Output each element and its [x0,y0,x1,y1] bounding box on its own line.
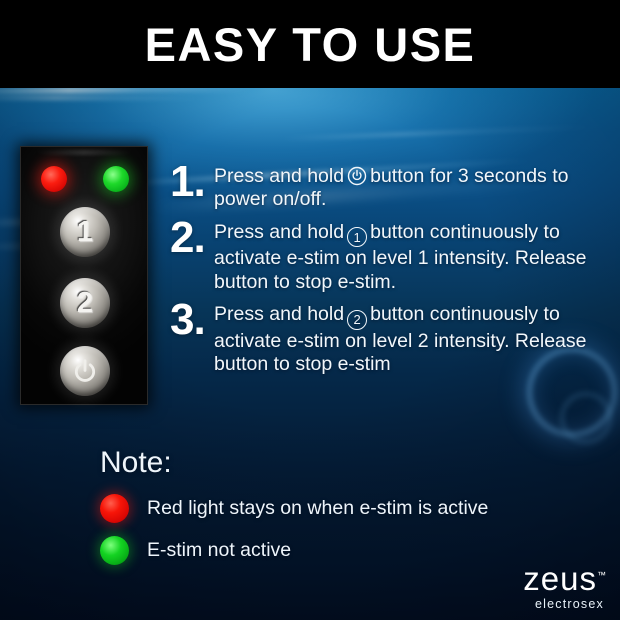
device-button-2-label: 2 [77,289,93,318]
note-item-label: E-stim not active [147,541,291,561]
device-button-2[interactable]: 2 [60,278,110,328]
device-button-1[interactable]: 1 [60,207,110,257]
brand-tagline: electrosex [523,598,604,611]
step-number: 2. [170,218,214,258]
step-number: 1. [170,162,214,202]
page-title: EASY TO USE [145,21,476,68]
brand-name-text: zeus [523,560,597,597]
panel-sheen [36,150,132,155]
step-text-before: Press and hold [214,165,344,187]
note-title: Note: [100,448,488,478]
brand-logo: zeus™ electrosex [523,562,606,611]
step-text: Press and hold2button continuously to ac… [214,300,610,376]
step-item: 2. Press and hold1button continuously to… [170,218,610,294]
step-text: Press and holdbutton for 3 seconds to po… [214,162,610,212]
note-section: Note: Red light stays on when e-stim is … [100,448,488,578]
note-item-label: Red light stays on when e-stim is active [147,499,488,519]
red-dot-icon [100,494,129,523]
step-item: 1. Press and holdbutton for 3 seconds to… [170,162,610,212]
power-icon [347,166,367,186]
note-item: E-stim not active [100,536,488,565]
step-number: 3. [170,300,214,340]
step-item: 3. Press and hold2button continuously to… [170,300,610,376]
step-text-before: Press and hold [214,221,344,243]
step-text: Press and hold1button continuously to ac… [214,218,610,294]
circled-two-icon: 2 [347,310,367,330]
step-text-before: Press and hold [214,303,344,325]
title-bar: EASY TO USE [0,0,620,88]
green-led [103,166,129,192]
device-button-1-label: 1 [77,218,93,247]
circled-one-icon: 1 [347,227,367,247]
power-icon [72,358,98,384]
trademark-symbol: ™ [597,570,606,580]
device-power-button[interactable] [60,346,110,396]
red-led [41,166,67,192]
remote-control-panel: 1 2 [20,146,148,405]
green-dot-icon [100,536,129,565]
poster-canvas: EASY TO USE 1 2 1. Press and holdbutton … [0,0,620,620]
instruction-steps: 1. Press and holdbutton for 3 seconds to… [170,162,610,382]
note-item: Red light stays on when e-stim is active [100,494,488,523]
brand-name: zeus™ [523,562,606,595]
